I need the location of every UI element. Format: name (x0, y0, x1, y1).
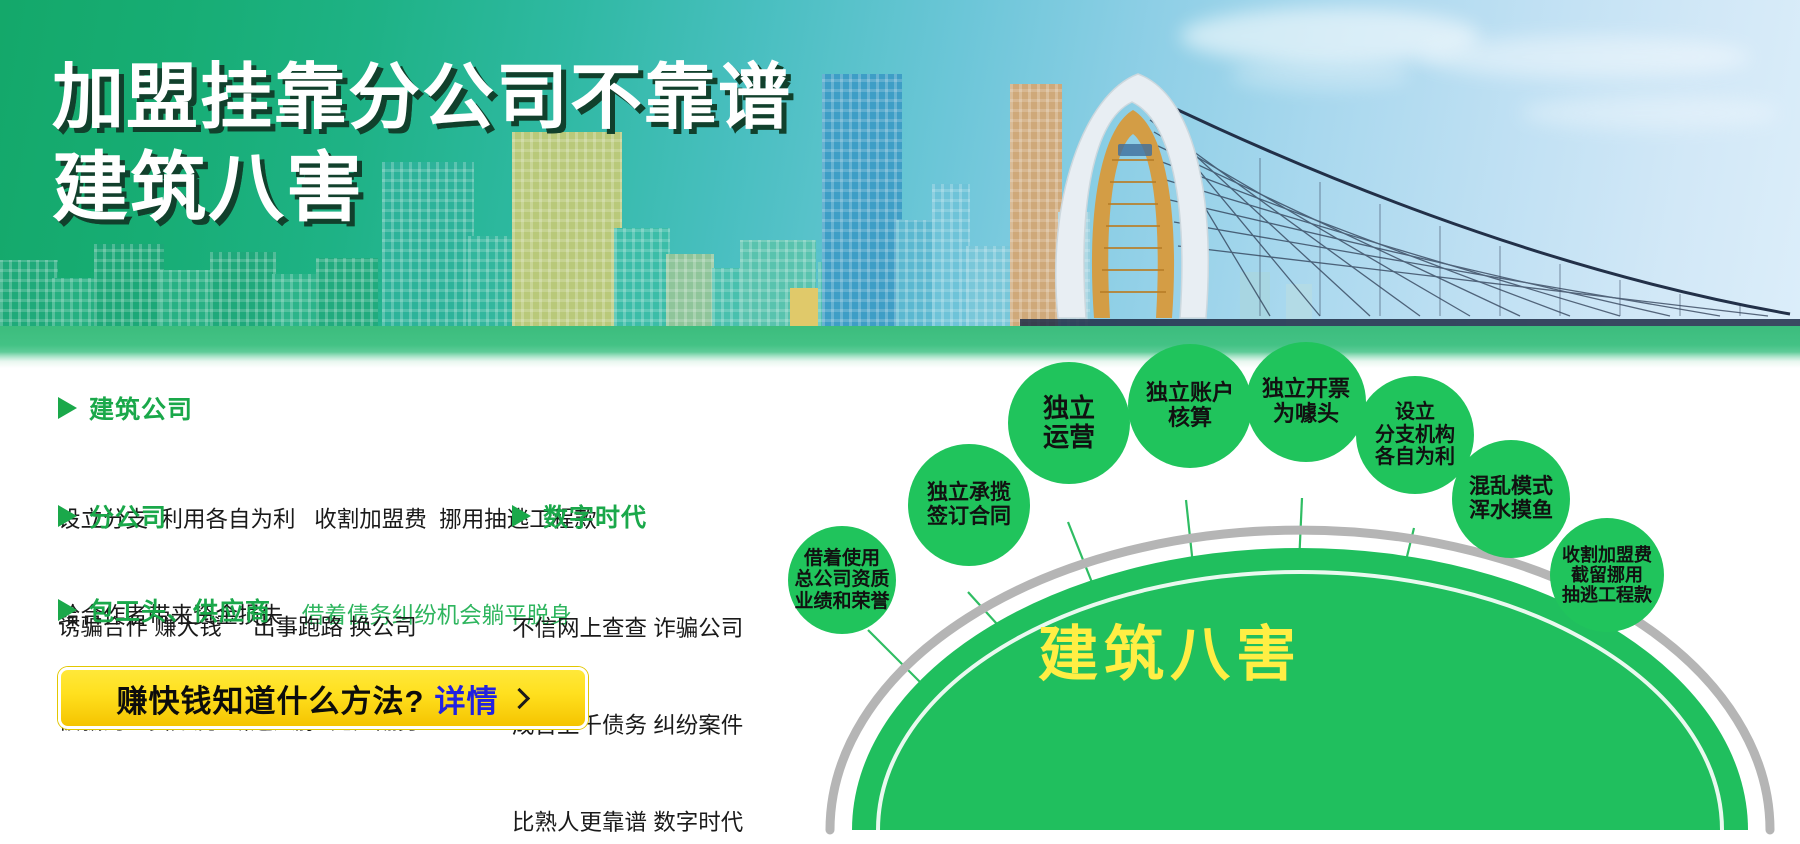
triangle-bullet-icon (58, 505, 77, 527)
section-heading: 建筑公司 (58, 390, 597, 426)
section-title: 分公司 (89, 498, 167, 534)
bubble-5[interactable]: 独立开票 为噱头 (1246, 342, 1366, 462)
left-content-column: 建筑公司 设立分支 利用各自为利 收割加盟费 挪用抽逃工程款 给合作者带来资金损… (0, 380, 800, 844)
eight-harms-diagram: 借着使用 总公司资质 业绩和荣誉 独立承揽 签订合同 独立 运营 独立账户 核算… (800, 330, 1800, 844)
building-shape (160, 270, 214, 332)
cta-primary-text: 赚快钱知道什么方法? (117, 676, 425, 721)
building-shape (822, 74, 902, 332)
cta-link-text: 详情 (434, 676, 498, 721)
bridge-deck (1020, 319, 1800, 326)
hero-banner: 加盟挂靠分公司不靠谱 建筑八害 (0, 0, 1800, 368)
headline-line-2: 建筑八害 (52, 148, 792, 230)
section-heading: 数字时代 (512, 498, 743, 534)
section-heading: 包工头、供应商 (58, 592, 421, 628)
triangle-bullet-icon (58, 599, 77, 621)
poster-root: 加盟挂靠分公司不靠谱 建筑八害 建筑公司 设立分支 利用各自为利 收割加盟费 挪… (0, 0, 1800, 844)
liede-bridge (1020, 50, 1800, 350)
bubble-1[interactable]: 借着使用 总公司资质 业绩和荣誉 (788, 526, 896, 634)
bubble-2[interactable]: 独立承揽 签订合同 (908, 444, 1030, 566)
bubble-8[interactable]: 收割加盟费 截留挪用 抽逃工程款 (1550, 518, 1664, 632)
triangle-bullet-icon (512, 505, 531, 527)
building-shape (316, 258, 378, 332)
section-title: 建筑公司 (89, 390, 193, 426)
cta-button[interactable]: 赚快钱知道什么方法? 详情 (58, 667, 588, 729)
bubble-4[interactable]: 独立账户 核算 (1128, 344, 1252, 468)
headline-line-1: 加盟挂靠分公司不靠谱 (52, 60, 792, 138)
section-title: 数字时代 (543, 498, 647, 534)
chevron-right-icon (509, 687, 530, 708)
bubble-3[interactable]: 独立 运营 (1008, 362, 1130, 484)
building-shape (272, 274, 320, 332)
building-shape (614, 228, 670, 332)
bubble-7[interactable]: 混乱模式 浑水摸鱼 (1452, 440, 1570, 558)
triangle-bullet-icon (58, 397, 77, 419)
dome-center-title: 建筑八害 (1038, 606, 1302, 693)
section-title: 包工头、供应商 (89, 592, 271, 628)
building-shape (52, 278, 98, 332)
hero-headline: 加盟挂靠分公司不靠谱 建筑八害 (52, 60, 792, 230)
building-shape (932, 184, 970, 332)
body-line: 不信网上查查 诈骗公司 (512, 613, 743, 645)
building-shape (666, 254, 714, 332)
building-shape (0, 260, 58, 332)
section-heading: 分公司 (58, 498, 417, 534)
building-shape (94, 244, 164, 332)
building-shape (210, 252, 276, 332)
body-line: 比熟人更靠谱 数字时代 (512, 807, 743, 839)
